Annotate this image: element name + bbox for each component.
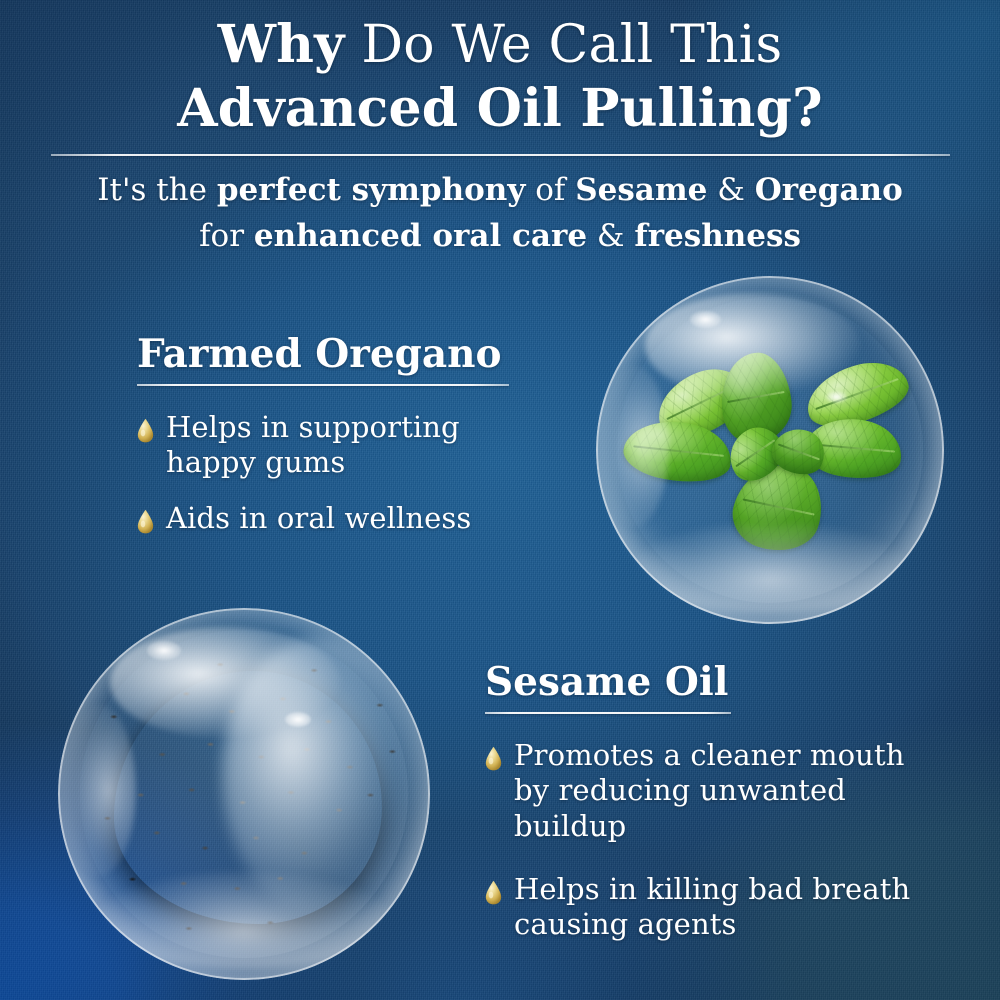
page-subtitle: It's the perfect symphony of Sesame & Or… (0, 170, 1000, 257)
list-item-label: Promotes a cleaner mouth by reducing unw… (514, 738, 924, 844)
headline-line-1: Why Do We Call This (0, 18, 1000, 72)
headline-word-why: Why (218, 14, 345, 75)
page-title: Why Do We Call This Advanced Oil Pulling… (0, 18, 1000, 135)
ingredient-title-underline (485, 712, 731, 714)
list-item: Helps in killing bad breath causing agen… (485, 872, 925, 943)
ingredient-title-oregano: Farmed Oregano (137, 334, 509, 375)
infographic-poster: Why Do We Call This Advanced Oil Pulling… (0, 0, 1000, 1000)
subtitle-2-a: for (199, 218, 254, 254)
bubble-rim (596, 276, 944, 624)
subtitle-line-2: for enhanced oral care & freshness (0, 216, 1000, 256)
subtitle-1-c: of (525, 172, 575, 208)
subtitle-2-b: enhanced oral care (254, 218, 587, 254)
list-item: Aids in oral wellness (137, 501, 509, 536)
bubble-rim (58, 608, 430, 980)
oil-droplet-icon (485, 746, 502, 771)
subtitle-2-c: & (587, 218, 634, 254)
list-item-label: Aids in oral wellness (166, 501, 471, 536)
ingredient-title-underline (137, 384, 509, 386)
ingredient-benefits-sesame: Promotes a cleaner mouth by reducing unw… (485, 738, 925, 943)
subtitle-1-b: perfect symphony (217, 172, 526, 208)
headline-line-2: Advanced Oil Pulling? (0, 82, 1000, 135)
list-item-label: Helps in supporting happy gums (166, 410, 496, 481)
subtitle-2-d: freshness (634, 218, 801, 254)
sesame-bubble-image (58, 608, 430, 980)
subtitle-1-e: & (707, 172, 754, 208)
ingredient-benefits-oregano: Helps in supporting happy gums Aids in o… (137, 410, 509, 536)
ingredient-block-sesame: Sesame Oil Promotes a cleaner mouth by r… (485, 662, 731, 943)
oil-droplet-icon (137, 418, 154, 443)
headline-line-1-rest: Do We Call This (345, 15, 783, 75)
oregano-bubble-image (596, 276, 944, 624)
title-divider (51, 154, 950, 156)
ingredient-title-sesame: Sesame Oil (485, 662, 731, 703)
subtitle-1-d: Sesame (575, 172, 707, 208)
subtitle-1-a: It's the (97, 172, 217, 208)
ingredient-block-oregano: Farmed Oregano (137, 334, 509, 536)
oil-droplet-icon (485, 880, 502, 905)
oil-droplet-icon (137, 509, 154, 534)
subtitle-line-1: It's the perfect symphony of Sesame & Or… (0, 170, 1000, 210)
list-item: Helps in supporting happy gums (137, 410, 509, 481)
subtitle-1-f: Oregano (755, 172, 903, 208)
list-item: Promotes a cleaner mouth by reducing unw… (485, 738, 925, 844)
list-item-label: Helps in killing bad breath causing agen… (514, 872, 924, 943)
